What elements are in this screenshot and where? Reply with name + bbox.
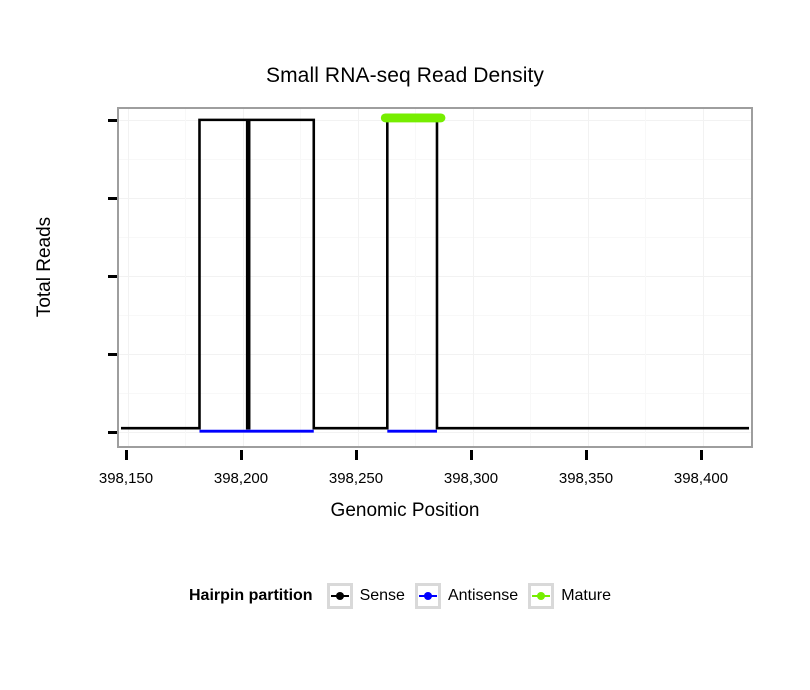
legend: Hairpin partition Sense Antisense Mature <box>0 583 810 609</box>
legend-entry-antisense[interactable]: Antisense <box>415 583 518 609</box>
y-tick-mark-4 <box>108 119 117 122</box>
chart-title: Small RNA-seq Read Density <box>0 64 810 88</box>
legend-label-antisense: Antisense <box>448 587 518 605</box>
plot-panel <box>117 107 753 448</box>
x-tick-label-4: 398,350 <box>531 470 641 487</box>
y-tick-mark-1 <box>108 353 117 356</box>
chart-figure: Small RNA-seq Read Density Total Reads 0… <box>0 0 810 690</box>
y-tick-mark-2 <box>108 275 117 278</box>
series-sense-line <box>121 120 749 428</box>
x-tick-mark-3 <box>470 450 473 460</box>
legend-key-antisense <box>415 583 441 609</box>
legend-title: Hairpin partition <box>189 587 313 605</box>
y-tick-mark-0 <box>108 431 117 434</box>
y-tick-mark-3 <box>108 197 117 200</box>
x-tick-label-2: 398,250 <box>301 470 411 487</box>
x-tick-label-1: 398,200 <box>186 470 296 487</box>
legend-key-dot-antisense <box>424 592 432 600</box>
x-tick-mark-4 <box>585 450 588 460</box>
plot-panel-inner <box>119 109 751 446</box>
y-axis-title: Total Reads <box>34 187 56 347</box>
x-tick-mark-5 <box>700 450 703 460</box>
legend-key-dot-mature <box>537 592 545 600</box>
legend-entry-sense[interactable]: Sense <box>327 583 405 609</box>
legend-key-dot-sense <box>336 592 344 600</box>
x-tick-label-0: 398,150 <box>71 470 181 487</box>
series-layer <box>119 109 751 446</box>
x-tick-mark-1 <box>240 450 243 460</box>
x-axis-title: Genomic Position <box>0 500 810 522</box>
legend-entry-mature[interactable]: Mature <box>528 583 611 609</box>
x-tick-mark-0 <box>125 450 128 460</box>
legend-key-sense <box>327 583 353 609</box>
legend-label-mature: Mature <box>561 587 611 605</box>
x-tick-label-3: 398,300 <box>416 470 526 487</box>
legend-label-sense: Sense <box>360 587 405 605</box>
x-tick-label-5: 398,400 <box>646 470 756 487</box>
x-tick-mark-2 <box>355 450 358 460</box>
legend-key-mature <box>528 583 554 609</box>
